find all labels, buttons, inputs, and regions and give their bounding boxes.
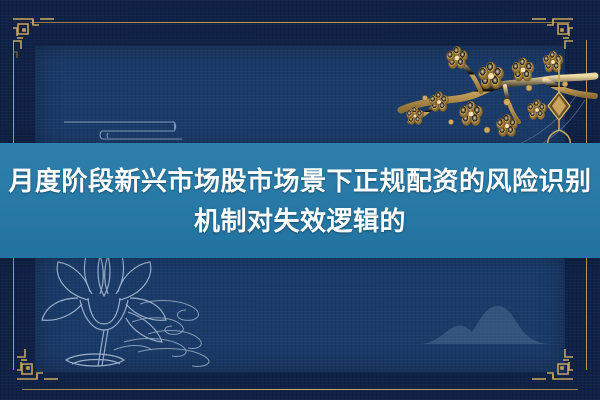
mountain-silhouette-icon — [420, 300, 550, 345]
gold-frame-line-bottom — [22, 389, 578, 390]
decorative-banner: 月度阶段新兴市场股市场景下正规配资的风险识别 机制对失效逻辑的 — [0, 0, 600, 400]
meander-corner-top-left-icon — [10, 16, 62, 68]
title-line-2: 机制对失效逻辑的 — [194, 202, 406, 240]
banner-title: 月度阶段新兴市场股市场景下正规配资的风险识别 机制对失效逻辑的 — [0, 143, 600, 258]
lotus-line-art-icon — [28, 238, 278, 373]
title-line-1: 月度阶段新兴市场股市场景下正规配资的风险识别 — [8, 162, 591, 200]
